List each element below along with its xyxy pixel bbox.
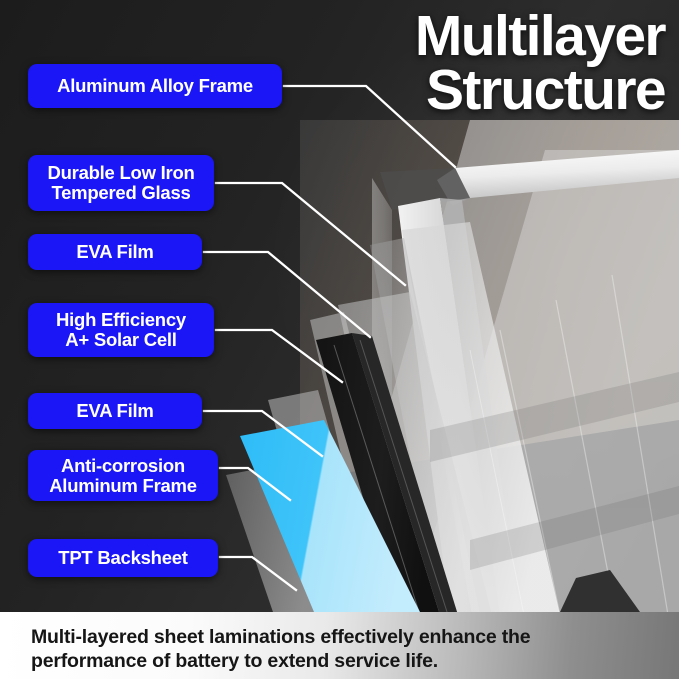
label-eva-film-top[interactable]: EVA Film — [28, 234, 202, 270]
caption-text: Multi-layered sheet laminations effectiv… — [31, 625, 530, 673]
label-tpt-backsheet[interactable]: TPT Backsheet — [28, 539, 218, 577]
caption-band: Multi-layered sheet laminations effectiv… — [0, 612, 679, 679]
label-high-efficiency-solar-cell[interactable]: High Efficiency A+ Solar Cell — [28, 303, 214, 357]
label-aluminum-alloy-frame[interactable]: Aluminum Alloy Frame — [28, 64, 282, 108]
label-eva-film-bottom[interactable]: EVA Film — [28, 393, 202, 429]
infographic-root: Multilayer Structure Aluminum Alloy Fram… — [0, 0, 679, 679]
label-anti-corrosion-frame[interactable]: Anti-corrosion Aluminum Frame — [28, 450, 218, 501]
page-title: Multilayer Structure — [320, 10, 665, 117]
label-durable-low-iron-glass[interactable]: Durable Low Iron Tempered Glass — [28, 155, 214, 211]
